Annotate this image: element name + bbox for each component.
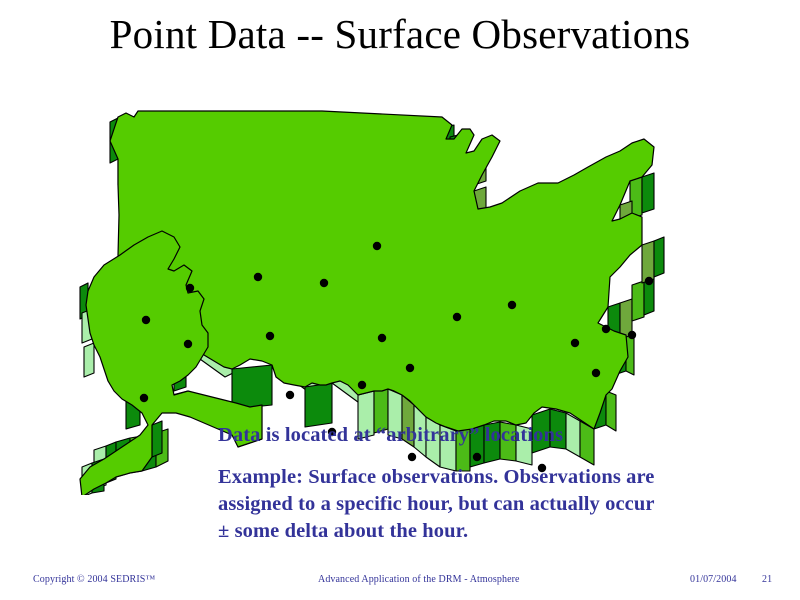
observation-point <box>286 391 294 399</box>
observation-point <box>378 334 386 342</box>
observation-point <box>645 277 653 285</box>
body-line: assigned to a specific hour, but can act… <box>218 491 790 518</box>
observation-point <box>186 284 194 292</box>
observation-point <box>266 332 274 340</box>
observation-point <box>358 381 366 389</box>
page-title: Point Data -- Surface Observations <box>0 8 800 60</box>
body-line: Data is located at “arbitrary” locations <box>218 422 790 449</box>
footer-course-title: Advanced Application of the DRM - Atmosp… <box>318 574 520 585</box>
observation-point <box>406 364 414 372</box>
observation-point <box>320 279 328 287</box>
observation-point <box>184 340 192 348</box>
observation-point <box>508 301 516 309</box>
body-paragraph-1: Data is located at “arbitrary” locations <box>218 422 790 449</box>
observation-point <box>571 339 579 347</box>
slide-canvas: Point Data -- Surface Observations <box>0 0 800 600</box>
observation-point <box>453 313 461 321</box>
observation-point <box>140 394 148 402</box>
footer-page-number: 21 <box>762 574 772 585</box>
observation-point <box>254 273 262 281</box>
observation-point <box>373 242 381 250</box>
body-text-block: Data is located at “arbitrary” locations… <box>218 422 790 545</box>
body-paragraph-2: Example: Surface observations. Observati… <box>218 464 790 545</box>
observation-point <box>602 325 610 333</box>
observation-point <box>628 331 636 339</box>
body-line: Example: Surface observations. Observati… <box>218 464 790 491</box>
observation-point <box>592 369 600 377</box>
footer-copyright: Copyright © 2004 SEDRIS™ <box>33 574 155 585</box>
body-line: ± some delta about the hour. <box>218 518 790 545</box>
slide-footer: Copyright © 2004 SEDRIS™ Advanced Applic… <box>0 570 800 592</box>
footer-date: 01/07/2004 <box>690 574 737 585</box>
observation-point <box>142 316 150 324</box>
